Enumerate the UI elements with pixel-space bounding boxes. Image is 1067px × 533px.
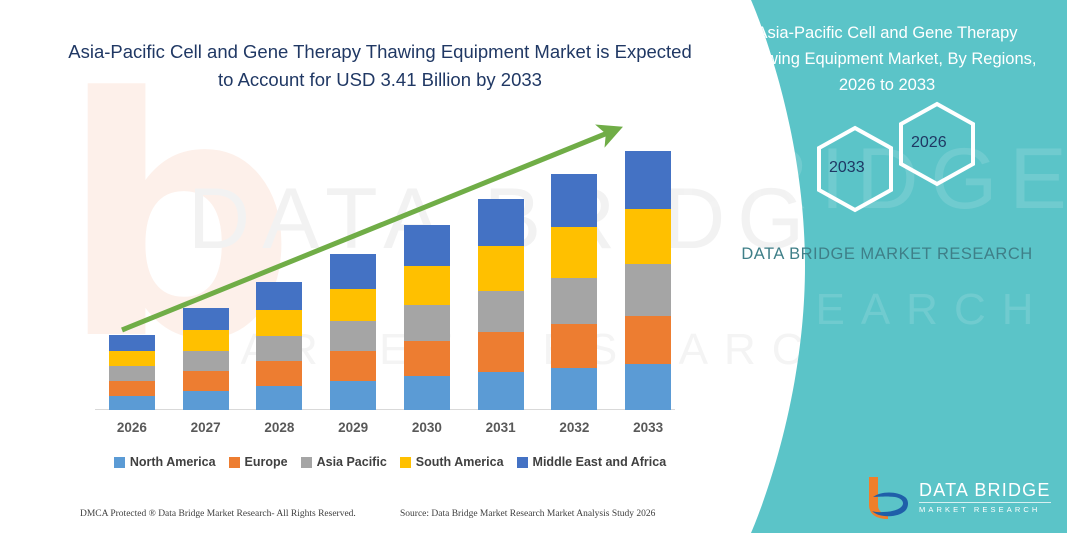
- right-info-panel: BRIDGE RESEARCH Asia-Pacific Cell and Ge…: [687, 0, 1067, 533]
- x-axis-labels: 20262027202820292030203120322033: [95, 418, 685, 442]
- chart-legend: North AmericaEuropeAsia PacificSouth Ame…: [95, 455, 685, 469]
- bar-segment-middle-east-and-africa[interactable]: [183, 308, 229, 330]
- legend-label: South America: [416, 455, 504, 469]
- bar-segment-south-america[interactable]: [256, 310, 302, 336]
- x-axis-label-2027: 2027: [171, 420, 241, 435]
- x-axis-label-2030: 2030: [392, 420, 462, 435]
- chart-title: Asia-Pacific Cell and Gene Therapy Thawi…: [60, 38, 700, 94]
- stacked-bar[interactable]: [256, 282, 302, 410]
- bar-segment-north-america[interactable]: [551, 368, 597, 410]
- stacked-bar[interactable]: [109, 335, 155, 410]
- x-axis-label-2031: 2031: [466, 420, 536, 435]
- bar-segment-north-america[interactable]: [625, 364, 671, 410]
- x-axis-label-2026: 2026: [97, 420, 167, 435]
- bar-segment-middle-east-and-africa[interactable]: [330, 254, 376, 288]
- legend-label: Europe: [245, 455, 288, 469]
- bar-segment-north-america[interactable]: [404, 376, 450, 410]
- bar-segment-europe[interactable]: [109, 381, 155, 396]
- bar-segment-asia-pacific[interactable]: [551, 278, 597, 324]
- hexagon-badges: 2026 2033: [787, 100, 1047, 220]
- logo-divider: [919, 502, 1051, 503]
- legend-item-middle-east-and-africa[interactable]: Middle East and Africa: [517, 455, 667, 469]
- legend-item-north-america[interactable]: North America: [114, 455, 216, 469]
- bar-segment-europe[interactable]: [256, 361, 302, 386]
- legend-label: Middle East and Africa: [533, 455, 667, 469]
- bar-segment-middle-east-and-africa[interactable]: [478, 199, 524, 246]
- x-axis-label-2029: 2029: [318, 420, 388, 435]
- logo-wordmark: DATA BRIDGE MARKET RESEARCH: [919, 481, 1051, 514]
- legend-item-asia-pacific[interactable]: Asia Pacific: [301, 455, 387, 469]
- bar-segment-middle-east-and-africa[interactable]: [256, 282, 302, 310]
- bar-segment-north-america[interactable]: [256, 386, 302, 410]
- bar-segment-europe[interactable]: [404, 341, 450, 376]
- panel-title: Asia-Pacific Cell and Gene Therapy Thawi…: [727, 20, 1047, 98]
- plot-area: [95, 120, 685, 410]
- legend-swatch-icon: [114, 457, 125, 468]
- bar-segment-north-america[interactable]: [330, 381, 376, 410]
- panel-watermark-line2: RESEARCH: [677, 285, 1050, 335]
- legend-swatch-icon: [517, 457, 528, 468]
- right-panel-content: BRIDGE RESEARCH Asia-Pacific Cell and Ge…: [687, 0, 1067, 533]
- bar-segment-middle-east-and-africa[interactable]: [404, 225, 450, 266]
- legend-swatch-icon: [301, 457, 312, 468]
- legend-swatch-icon: [400, 457, 411, 468]
- bar-segment-europe[interactable]: [551, 324, 597, 368]
- bar-segment-south-america[interactable]: [330, 289, 376, 321]
- bar-segment-north-america[interactable]: [109, 396, 155, 410]
- legend-label: North America: [130, 455, 216, 469]
- bar-segment-north-america[interactable]: [478, 372, 524, 410]
- legend-item-europe[interactable]: Europe: [229, 455, 288, 469]
- brand-name: DATA BRIDGE MARKET RESEARCH: [737, 240, 1037, 268]
- footer-copyright: DMCA Protected ® Data Bridge Market Rese…: [80, 509, 356, 519]
- bar-segment-middle-east-and-africa[interactable]: [551, 174, 597, 227]
- logo-title: DATA BRIDGE: [919, 481, 1051, 499]
- bar-segment-asia-pacific[interactable]: [109, 366, 155, 381]
- x-axis-label-2028: 2028: [244, 420, 314, 435]
- bar-segment-middle-east-and-africa[interactable]: [625, 151, 671, 209]
- stacked-bar[interactable]: [404, 225, 450, 410]
- bar-segment-asia-pacific[interactable]: [256, 336, 302, 361]
- bar-segment-south-america[interactable]: [404, 266, 450, 304]
- bar-segment-middle-east-and-africa[interactable]: [109, 335, 155, 351]
- hexagon-outlines: [787, 100, 1047, 220]
- bar-segment-asia-pacific[interactable]: [183, 351, 229, 371]
- stacked-bar[interactable]: [478, 199, 524, 410]
- x-axis-label-2033: 2033: [613, 420, 683, 435]
- bar-segment-asia-pacific[interactable]: [404, 305, 450, 341]
- bar-segment-europe[interactable]: [478, 332, 524, 372]
- bar-segment-europe[interactable]: [330, 351, 376, 381]
- bar-segment-asia-pacific[interactable]: [330, 321, 376, 351]
- stacked-bar[interactable]: [330, 254, 376, 410]
- chart-region: Asia-Pacific Cell and Gene Therapy Thawi…: [0, 0, 760, 533]
- bar-segment-south-america[interactable]: [478, 246, 524, 290]
- legend-swatch-icon: [229, 457, 240, 468]
- stacked-bar[interactable]: [551, 174, 597, 410]
- bar-segment-south-america[interactable]: [109, 351, 155, 366]
- stacked-bar[interactable]: [625, 151, 671, 410]
- bar-segment-europe[interactable]: [625, 316, 671, 364]
- logo-subtitle: MARKET RESEARCH: [919, 506, 1051, 514]
- legend-item-south-america[interactable]: South America: [400, 455, 504, 469]
- logo-mark-icon: [863, 475, 911, 519]
- footer-source: Source: Data Bridge Market Research Mark…: [400, 509, 655, 519]
- bar-segment-asia-pacific[interactable]: [478, 291, 524, 332]
- bar-segment-south-america[interactable]: [551, 227, 597, 277]
- bar-segment-south-america[interactable]: [625, 209, 671, 264]
- hexagon-2033-label: 2033: [829, 159, 865, 177]
- data-bridge-logo: DATA BRIDGE MARKET RESEARCH: [863, 472, 1063, 522]
- stacked-bar[interactable]: [183, 308, 229, 410]
- bar-segment-europe[interactable]: [183, 371, 229, 391]
- bar-segment-north-america[interactable]: [183, 391, 229, 410]
- hexagon-2026-label: 2026: [911, 134, 947, 152]
- bar-segment-asia-pacific[interactable]: [625, 264, 671, 315]
- x-axis-label-2032: 2032: [539, 420, 609, 435]
- legend-label: Asia Pacific: [317, 455, 387, 469]
- bar-segment-south-america[interactable]: [183, 330, 229, 351]
